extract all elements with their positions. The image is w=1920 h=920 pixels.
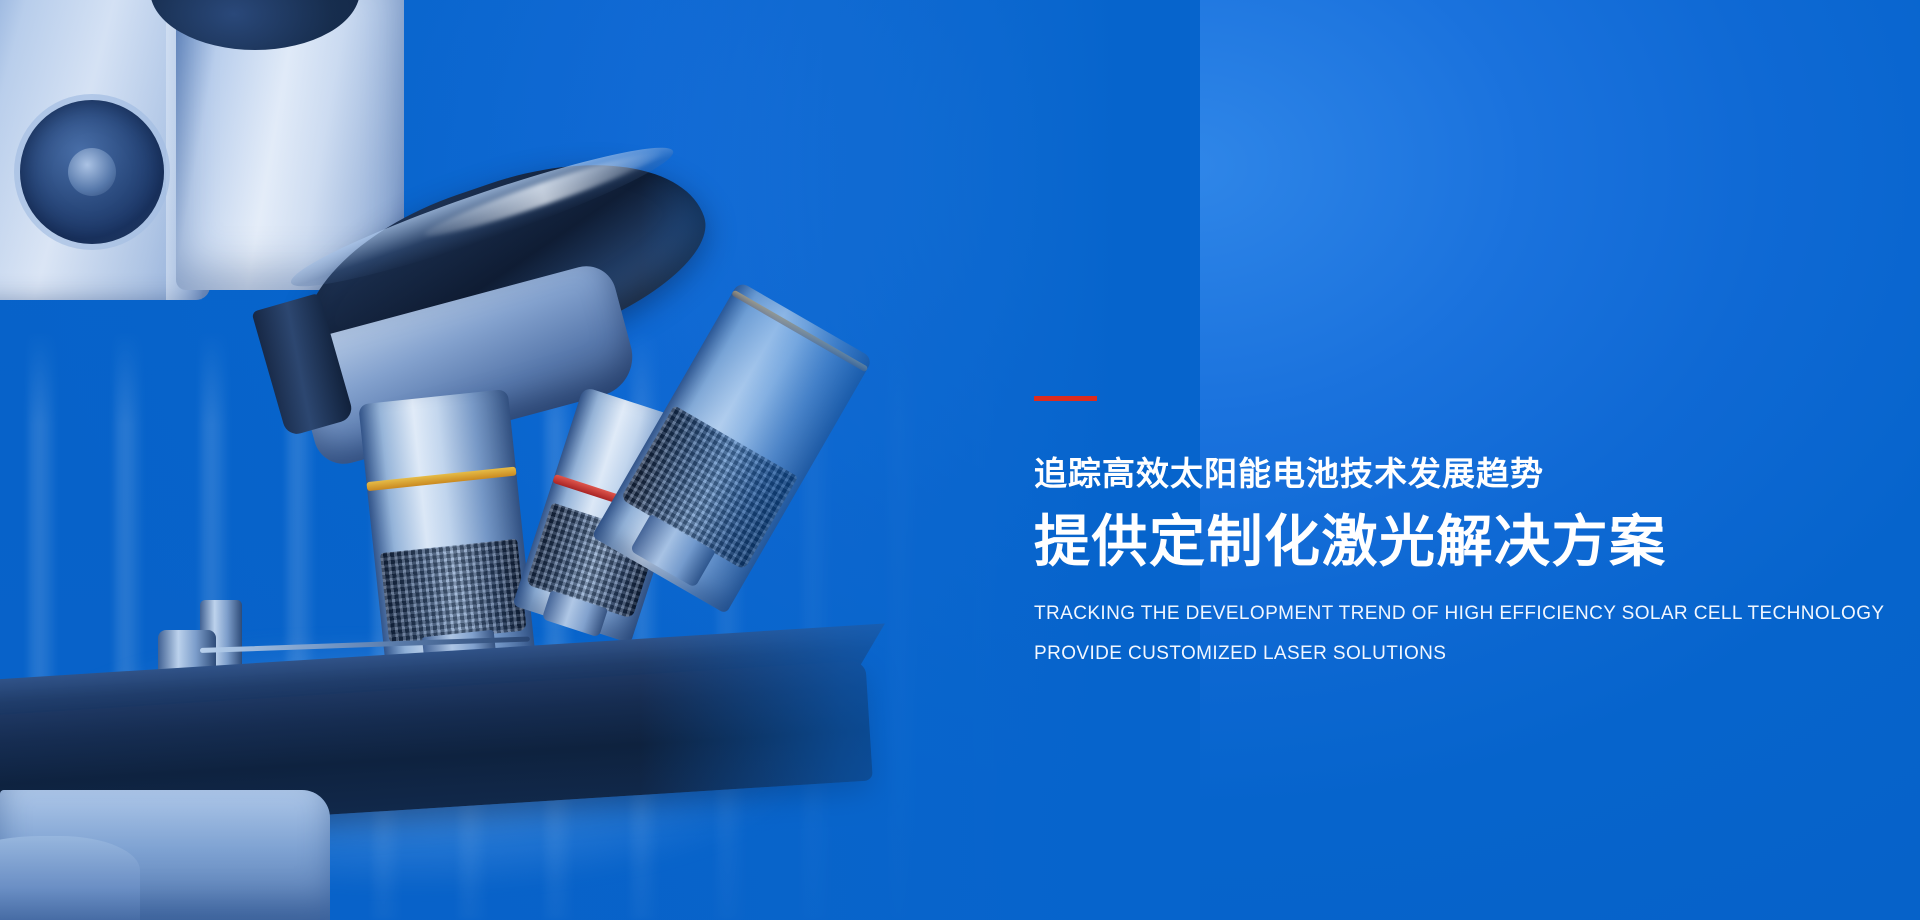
banner-subtitle: 追踪高效太阳能电池技术发展趋势 [1034, 457, 1854, 490]
banner-english-line-1: TRACKING THE DEVELOPMENT TREND OF HIGH E… [1034, 604, 1854, 623]
microscope-base-foot [0, 836, 140, 920]
banner-title: 提供定制化激光解决方案 [1034, 514, 1854, 570]
focus-knob [20, 100, 164, 244]
hero-banner: 追踪高效太阳能电池技术发展趋势 提供定制化激光解决方案 TRACKING THE… [0, 0, 1920, 920]
banner-content: 追踪高效太阳能电池技术发展趋势 提供定制化激光解决方案 TRACKING THE… [1034, 396, 1854, 663]
objective-knurled-grip [380, 539, 527, 645]
banner-english-line-2: PROVIDE CUSTOMIZED LASER SOLUTIONS [1034, 644, 1854, 663]
accent-divider [1034, 396, 1097, 401]
